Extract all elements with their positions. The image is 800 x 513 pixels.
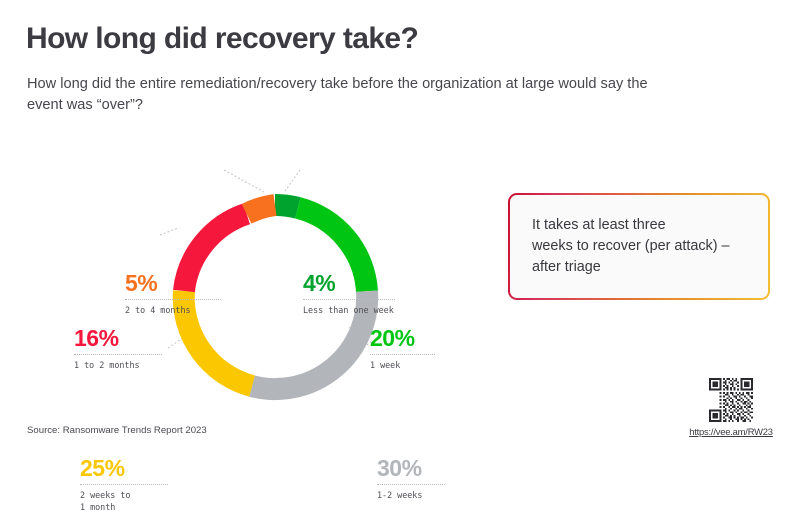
donut-chart: 5% 2 to 4 months 16% 1 to 2 months 25% 2… bbox=[0, 130, 500, 420]
donut-segment-less-than-one-week bbox=[275, 205, 298, 208]
qr-block: https://vee.am/RW23 bbox=[688, 378, 774, 437]
callout-label: 1-2 weeks bbox=[377, 489, 445, 501]
donut-segment-two-to-four-months bbox=[247, 205, 275, 214]
qr-link-text[interactable]: https://vee.am/RW23 bbox=[688, 426, 774, 437]
callout-rule bbox=[74, 354, 162, 355]
callout-two-to-four-months: 5% 2 to 4 months bbox=[125, 272, 221, 316]
callout-label: 1 week bbox=[370, 359, 435, 371]
callout-less-than-one-week: 4% Less than one week bbox=[303, 272, 395, 316]
callout-percent: 20% bbox=[370, 327, 435, 350]
page-subtitle: How long did the entire remediation/reco… bbox=[27, 74, 667, 116]
callout-two-weeks-to-one-month: 25% 2 weeks to 1 month bbox=[80, 457, 168, 513]
slide-canvas: How long did recovery take? How long did… bbox=[0, 0, 800, 450]
donut-chart-svg bbox=[0, 130, 500, 420]
page-title: How long did recovery take? bbox=[26, 22, 418, 55]
callout-percent: 5% bbox=[125, 272, 221, 295]
callout-rule bbox=[370, 354, 435, 355]
callout-percent: 16% bbox=[74, 327, 162, 350]
callout-one-week: 20% 1 week bbox=[370, 327, 435, 371]
callout-percent: 30% bbox=[377, 457, 445, 480]
callout-rule bbox=[80, 484, 168, 485]
insight-callout-box: It takes at least three weeks to recover… bbox=[508, 193, 770, 300]
callout-percent: 4% bbox=[303, 272, 395, 295]
qr-code-icon[interactable] bbox=[709, 378, 753, 422]
callout-rule bbox=[125, 299, 221, 300]
callout-label: 1 to 2 months bbox=[74, 359, 162, 371]
insight-callout-inner: It takes at least three weeks to recover… bbox=[510, 195, 768, 298]
callout-one-to-two-weeks: 30% 1-2 weeks bbox=[377, 457, 445, 501]
callout-percent: 25% bbox=[80, 457, 168, 480]
source-note: Source: Ransomware Trends Report 2023 bbox=[27, 425, 207, 436]
callout-rule bbox=[303, 299, 395, 300]
callout-label: 2 to 4 months bbox=[125, 304, 221, 316]
callout-label: 2 weeks to 1 month bbox=[80, 489, 168, 513]
callout-one-to-two-months: 16% 1 to 2 months bbox=[74, 327, 162, 371]
callout-rule bbox=[377, 484, 445, 485]
insight-callout-text: It takes at least three weeks to recover… bbox=[532, 215, 730, 279]
callout-label: Less than one week bbox=[303, 304, 395, 316]
